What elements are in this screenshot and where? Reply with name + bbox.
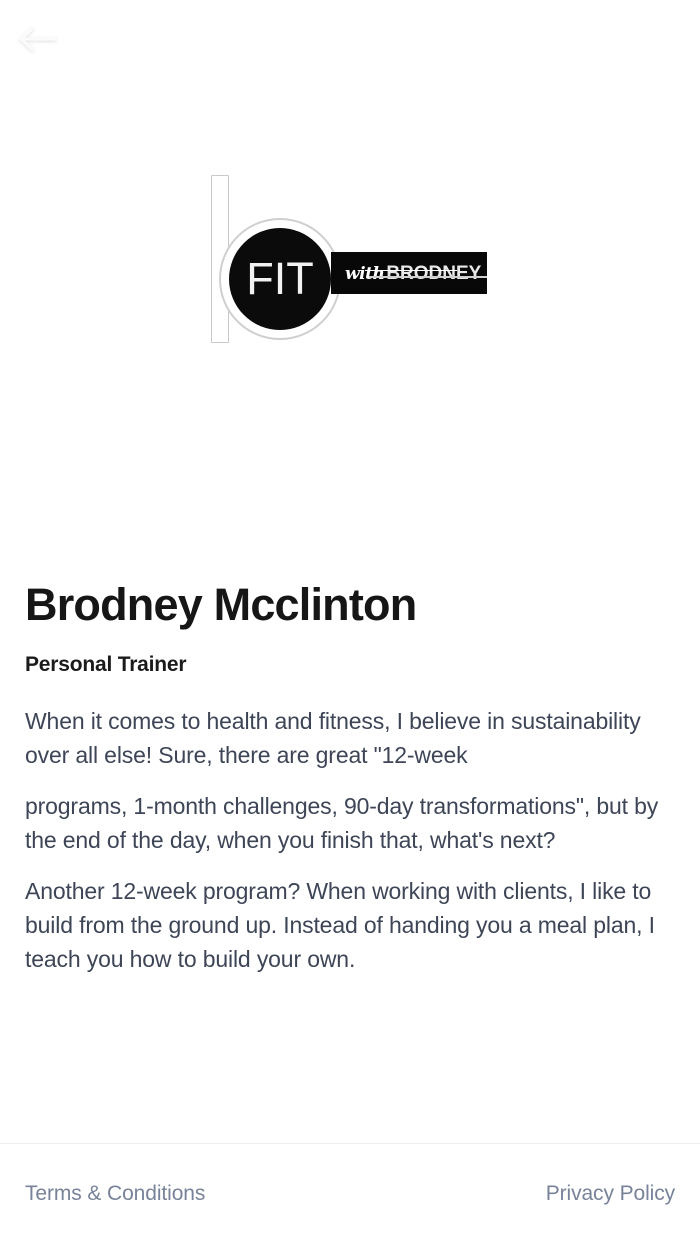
privacy-policy-link[interactable]: Privacy Policy bbox=[546, 1182, 675, 1206]
logo-banner: with BRODNEY bbox=[331, 252, 487, 294]
profile-role: Personal Trainer bbox=[25, 652, 675, 677]
brand-logo: with BRODNEY FIT bbox=[0, 170, 700, 350]
logo-banner-underline bbox=[369, 276, 487, 278]
page-title: Brodney Mcclinton bbox=[25, 580, 675, 630]
logo-banner-script-text: with bbox=[345, 266, 386, 283]
logo-banner-name-text: BRODNEY bbox=[386, 264, 481, 283]
terms-and-conditions-link[interactable]: Terms & Conditions bbox=[25, 1182, 205, 1206]
profile-content: Brodney Mcclinton Personal Trainer When … bbox=[0, 580, 700, 976]
back-button[interactable] bbox=[10, 14, 66, 64]
bio-paragraph: programs, 1-month challenges, 90-day tra… bbox=[25, 789, 675, 857]
footer: Terms & Conditions Privacy Policy bbox=[0, 1143, 700, 1244]
logo-fit-circle: FIT bbox=[229, 228, 331, 330]
arrow-left-icon bbox=[18, 24, 58, 54]
bio-paragraph: When it comes to health and fitness, I b… bbox=[25, 704, 675, 772]
bio-paragraph: Another 12-week program? When working wi… bbox=[25, 874, 675, 976]
logo-fit-text: FIT bbox=[246, 256, 313, 301]
profile-bio: When it comes to health and fitness, I b… bbox=[25, 704, 675, 976]
